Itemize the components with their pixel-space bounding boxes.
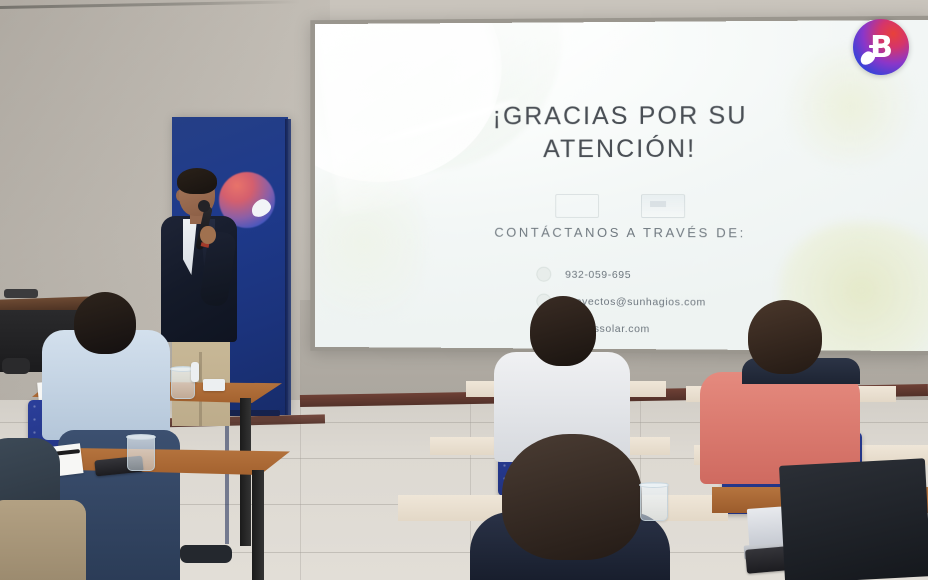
clicker-device — [203, 379, 225, 391]
slide-title-line1: ¡GRACIAS POR SU — [315, 99, 928, 134]
watermark-logo: B — [853, 19, 909, 75]
phone-icon — [536, 267, 551, 282]
presenter-hair — [177, 168, 217, 194]
list-item: 932-059-695 — [536, 267, 928, 284]
marker-pen — [191, 362, 199, 382]
microphone-head — [198, 200, 210, 212]
desk-object-2 — [2, 358, 30, 374]
slide-placeholder-box-2 — [641, 194, 685, 218]
attendee-light-blue-shirt-head — [74, 292, 136, 354]
slide-title: ¡GRACIAS POR SU ATENCIÓN! — [315, 99, 928, 166]
desk-object — [4, 289, 38, 298]
attendee-navy-jacket-hair — [502, 434, 642, 560]
attendee-edge-left-legs — [0, 500, 86, 580]
slide-placeholder-box-1 — [555, 194, 599, 218]
table-leg — [252, 470, 264, 580]
watermark-bar — [869, 45, 883, 48]
plastic-cup — [127, 435, 155, 471]
slide-placeholder-row — [315, 194, 928, 219]
slide-subtitle: CONTÁCTANOS A TRAVÉS DE: — [315, 224, 928, 240]
attendee-white-tshirt-head — [530, 296, 596, 366]
list-item: proyectos@sunhagios.com — [536, 294, 928, 311]
smartphone — [745, 546, 789, 574]
attendee-salmon-polo-head — [748, 300, 822, 374]
banner-pole — [225, 414, 229, 544]
rollup-banner-edge — [285, 119, 291, 415]
slide-title-line2: ATENCIÓN! — [315, 132, 928, 166]
laptop-screen-back — [779, 458, 928, 580]
attendee-shoe — [180, 545, 232, 563]
photo-scene: ¡GRACIAS POR SU ATENCIÓN! CONTÁCTANOS A … — [0, 0, 928, 580]
projection-screen: ¡GRACIAS POR SU ATENCIÓN! CONTÁCTANOS A … — [315, 20, 928, 351]
plastic-cup — [640, 483, 668, 521]
presenter-hand — [200, 226, 216, 244]
contact-phone: 932-059-695 — [565, 268, 631, 280]
